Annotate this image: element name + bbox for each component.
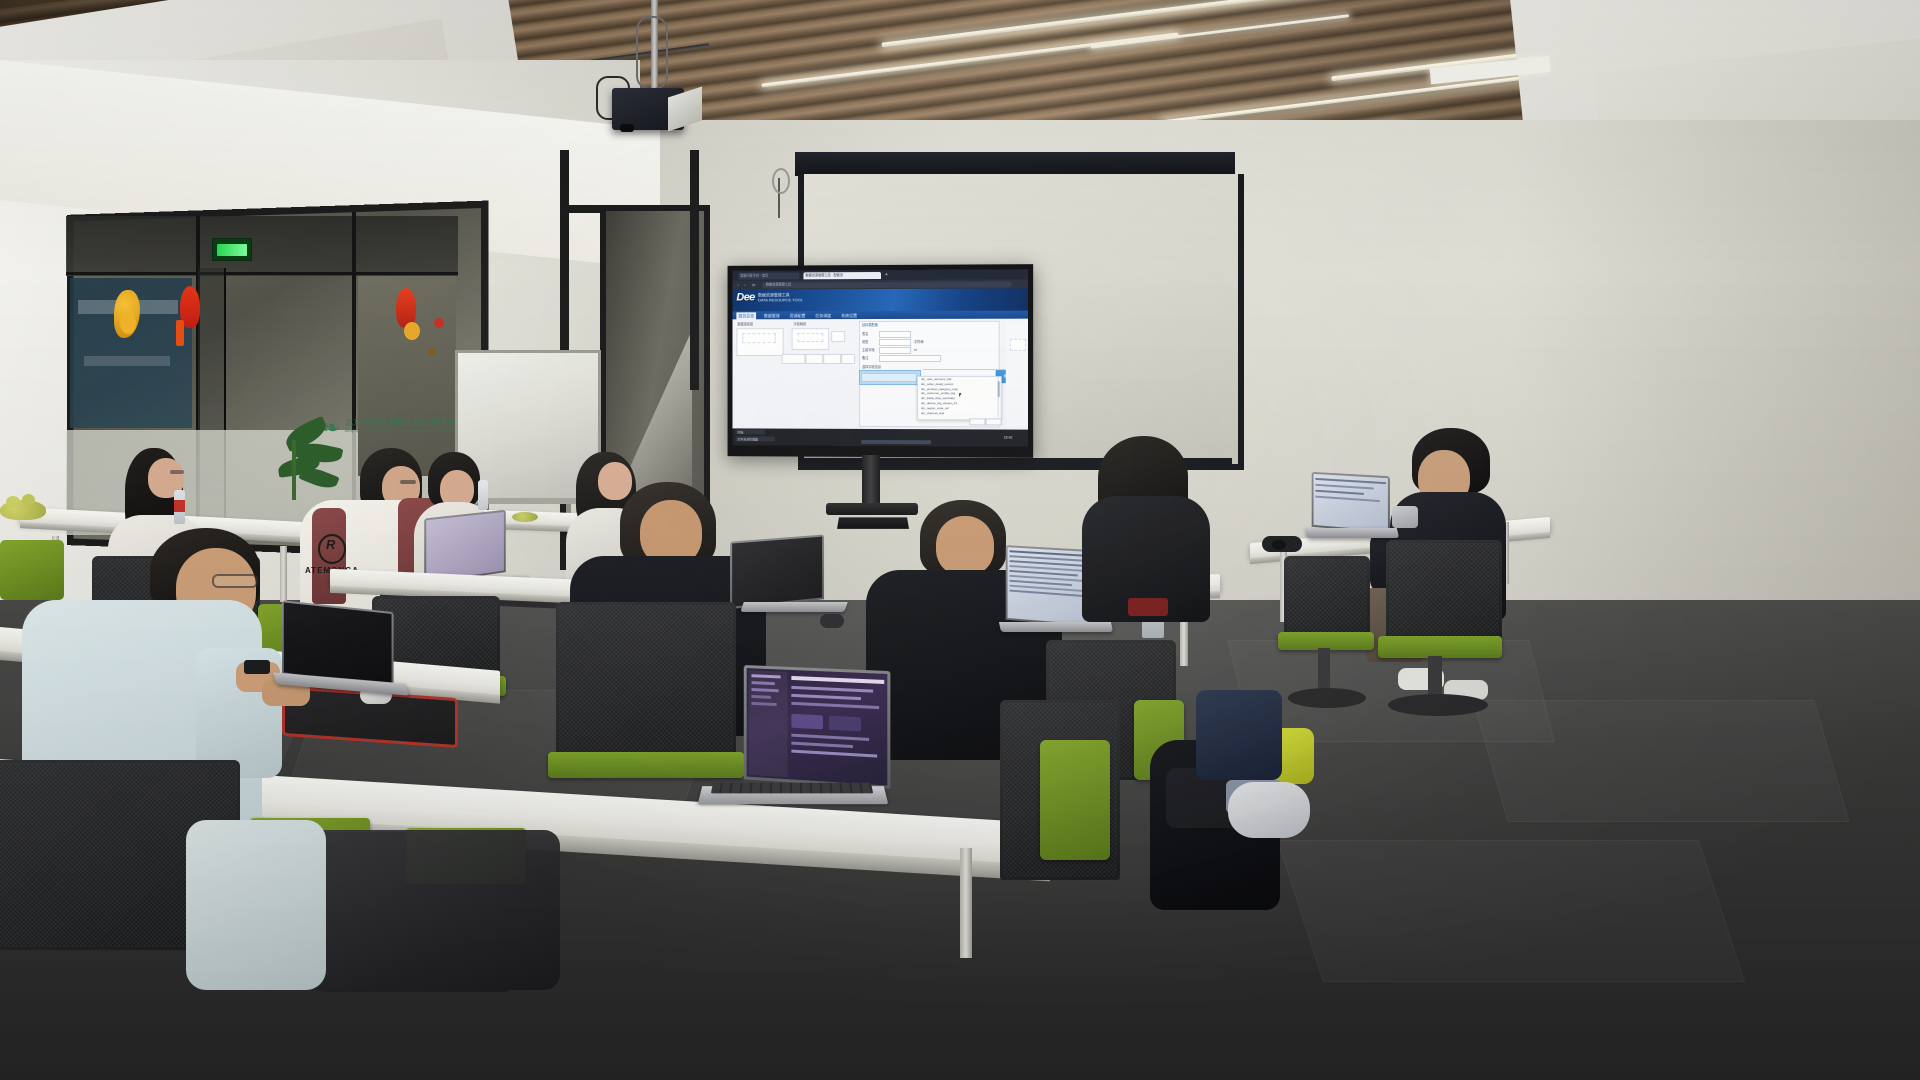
jacket-logo-letter: R — [326, 538, 335, 552]
app-nav-tab-0[interactable]: 首页总览 — [736, 312, 756, 319]
app-logo-subtitle: 数据资源管理工具 DATA RESOURCE TOOL — [758, 292, 803, 302]
search-field-label: 选择字段信息 — [862, 365, 881, 369]
app-nav-tab-1[interactable]: 数据管理 — [762, 312, 782, 319]
interior-shelf — [84, 356, 170, 366]
chair-seat — [1040, 740, 1110, 860]
browser-tab-inactive-title: 智能问答平台 - 首页 — [740, 273, 768, 278]
field-input-2[interactable] — [879, 347, 911, 354]
save-button[interactable] — [969, 418, 985, 425]
section-title-right: 目标表配置 — [862, 323, 878, 327]
field-label-0: 表名 — [862, 332, 868, 336]
projector-lens — [620, 124, 634, 132]
mapping-op-node[interactable] — [831, 331, 845, 342]
app-logo-subtitle-en: DATA RESOURCE TOOL — [758, 297, 803, 302]
mapping-chip[interactable] — [798, 333, 824, 342]
glass-transom — [66, 216, 458, 276]
screen-pull-loop — [772, 168, 790, 194]
field-value-2: id — [914, 348, 916, 352]
app-nav-tab-2[interactable]: 资源配置 — [788, 312, 808, 319]
forward-icon[interactable]: › — [744, 283, 745, 288]
glass-rail — [66, 272, 458, 275]
fruit — [512, 512, 538, 522]
dropdown-item-1[interactable]: dm_order_detail_record — [921, 383, 953, 387]
mouse[interactable] — [820, 614, 844, 628]
org-logo-mark: ❧ — [322, 417, 344, 441]
backpack — [1196, 690, 1282, 780]
mapping-row-node[interactable] — [805, 354, 823, 364]
field-input-1[interactable] — [879, 339, 911, 346]
address-input[interactable] — [762, 281, 1012, 288]
cancel-button[interactable] — [986, 418, 1002, 425]
mapping-row-node[interactable] — [782, 354, 806, 364]
jacket-logo — [1128, 598, 1168, 616]
dot-decal — [434, 318, 444, 328]
glasses-icon — [400, 480, 416, 484]
laptop-base — [1305, 528, 1399, 538]
browser-tab-active-title: 数据资源管理工具 - 配置页 — [805, 273, 843, 278]
laptop-screen[interactable] — [1314, 474, 1388, 531]
chair-base — [1288, 688, 1366, 708]
laptop-lid — [730, 535, 824, 609]
address-text: 数据资源管理工具 — [766, 283, 791, 288]
person-sleeve — [186, 820, 326, 990]
laptop-screen[interactable] — [747, 668, 888, 785]
laptop-lid — [1312, 472, 1390, 534]
taskbar-explorer-label: 文件资源管理器 — [737, 437, 758, 441]
app-nav-tab-3[interactable]: 任务调度 — [813, 312, 833, 319]
laptop-screen[interactable] — [732, 537, 822, 607]
laptop-base — [999, 622, 1113, 632]
section-title-mid: 字段映射 — [794, 322, 807, 326]
right-panel-node[interactable] — [1010, 339, 1026, 351]
fruit — [22, 494, 35, 506]
plant-stem — [292, 440, 296, 500]
chair-back — [300, 830, 560, 990]
chair-seat — [0, 540, 64, 600]
projection-screen-housing — [795, 152, 1235, 176]
phone[interactable] — [244, 660, 270, 674]
laptop-keyboard[interactable] — [711, 783, 873, 794]
lantern-tassel-decal — [176, 320, 184, 346]
mapping-row-node[interactable] — [841, 354, 855, 364]
head — [936, 516, 994, 576]
fruit — [6, 496, 20, 508]
mapping-row-node[interactable] — [823, 354, 841, 364]
chair-seat — [548, 752, 744, 778]
new-tab-icon[interactable]: + — [885, 272, 888, 278]
chair-base — [1388, 694, 1488, 716]
app-logo: Dee — [736, 291, 754, 303]
laptop-lid — [744, 665, 891, 789]
section-title-left: 数据源连接 — [737, 322, 753, 326]
webcam-lens-icon — [1272, 540, 1286, 550]
cup — [1392, 506, 1418, 528]
taskbar-clock: 15:42 — [1004, 436, 1013, 441]
display-stand-base — [826, 503, 918, 515]
projector-cable-loop — [636, 16, 668, 90]
display-stand-neck — [862, 455, 880, 507]
chair-seat — [1378, 636, 1502, 658]
field-label-3: 备注 — [862, 356, 868, 360]
search-input[interactable] — [861, 373, 917, 382]
taskbar-window-chip[interactable] — [861, 440, 931, 444]
laptop-base — [740, 602, 848, 612]
app-nav-tab-4[interactable]: 系统设置 — [839, 312, 859, 319]
partition-post — [690, 150, 699, 390]
app-body: 数据源连接 字段映射 目标表配置 表名 类型 字符串 主键字段 id 备注 — [732, 319, 1028, 430]
bottle-label — [174, 500, 185, 512]
desk-leg — [960, 848, 972, 958]
dropdown-item-6[interactable]: dm_region_code_ref — [921, 407, 949, 411]
dragon-decal-red — [404, 322, 420, 340]
dragon-decal-yellow-detail — [120, 312, 136, 334]
os-taskbar: 开始 文件资源管理器 15:42 — [732, 428, 1028, 446]
reload-icon[interactable]: ⟳ — [752, 283, 755, 288]
head — [598, 462, 632, 500]
datasource-chip[interactable] — [742, 333, 775, 343]
dropdown-item-7[interactable]: dm_channel_stat — [921, 412, 944, 416]
glasses-icon — [212, 574, 258, 588]
dot-decal — [428, 348, 436, 356]
desk-leg — [280, 546, 287, 602]
field-label-1: 类型 — [862, 340, 868, 344]
mouse-cursor-icon — [959, 393, 963, 397]
dropdown-scrollbar-thumb[interactable] — [997, 381, 999, 397]
app-sidebar — [749, 670, 788, 777]
field-input-3[interactable] — [879, 355, 941, 362]
classroom-scene: ❧ 北京语言资源服务及应用研究所 Beijing Language Resour… — [0, 0, 1920, 1080]
shoe — [1228, 782, 1310, 838]
field-input-0[interactable] — [879, 331, 911, 338]
display-stand-feet — [837, 517, 909, 528]
field-value-1: 字符串 — [914, 340, 924, 344]
taskbar-start-label: 开始 — [737, 430, 743, 434]
back-icon[interactable]: ‹ — [737, 283, 738, 288]
field-label-2: 主键字段 — [862, 348, 875, 352]
glasses-icon — [170, 470, 184, 474]
right-side-panel — [1006, 321, 1028, 426]
water-bottle — [478, 480, 488, 510]
interactive-display-screen[interactable]: 数据资源管理工具 - 配置页 智能问答平台 - 首页 + ‹ › ⟳ 数据资源管… — [732, 269, 1028, 447]
exit-sign-icon — [212, 238, 252, 261]
laptop-screen[interactable] — [426, 512, 504, 582]
